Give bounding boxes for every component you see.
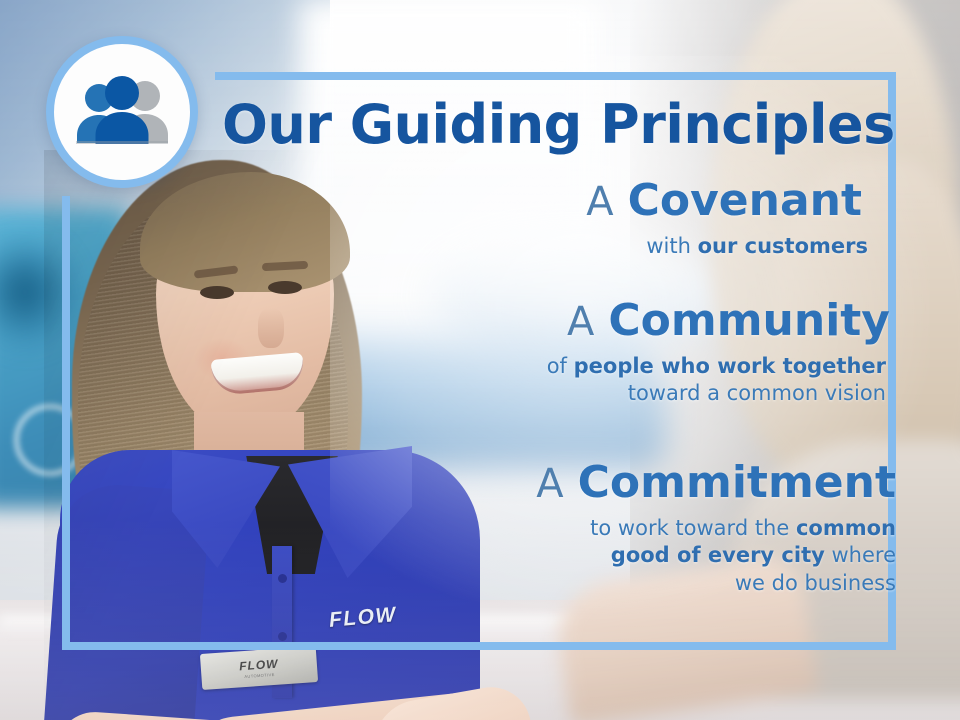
principle-covenant: A Covenant with our customers [586, 178, 896, 260]
principle-word: Commitment [578, 457, 896, 508]
principle-subtext: with our customers [586, 233, 896, 261]
principle-word: Community [608, 295, 890, 346]
employee-eye-right [268, 281, 302, 294]
employee-shirt-button [278, 632, 287, 641]
name-badge-sub: AUTOMOTIVE [244, 671, 275, 678]
frame-border-bottom [62, 642, 896, 650]
principle-heading: A Community [547, 298, 896, 345]
principle-heading: A Covenant [586, 178, 896, 225]
banner-stage: FLOW FLOW AUTOMOTIVE [0, 0, 960, 720]
employee-shirt-button [278, 574, 287, 583]
principle-word: Covenant [628, 175, 862, 226]
principle-commitment: A Commitment to work toward the commongo… [536, 460, 896, 598]
principle-subtext: of people who work togethertoward a comm… [547, 353, 896, 408]
page-title: Our Guiding Principles [222, 98, 882, 152]
principle-article: A [536, 461, 563, 507]
frame-border-top [215, 72, 896, 80]
principle-article: A [586, 179, 613, 225]
principle-subtext: to work toward the commongood of every c… [536, 515, 896, 598]
frame-border-left [62, 196, 70, 650]
employee-eye-left [200, 286, 234, 299]
principle-article: A [567, 299, 594, 345]
employee-nose [258, 308, 284, 348]
people-group-badge [46, 36, 198, 188]
principle-community: A Community of people who work togethert… [547, 298, 896, 408]
employee-figure: FLOW FLOW AUTOMOTIVE [44, 150, 524, 720]
name-badge-brand: FLOW [239, 657, 279, 672]
people-group-icon [68, 75, 176, 149]
principle-heading: A Commitment [536, 460, 896, 507]
